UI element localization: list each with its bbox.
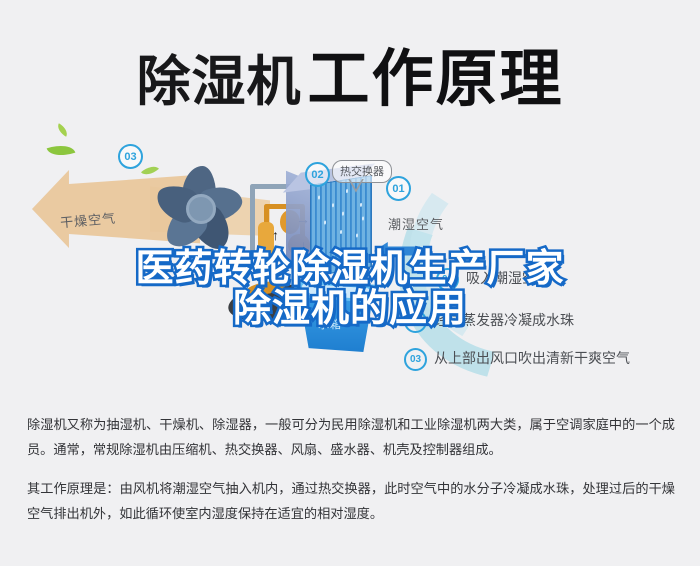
flow-arrow-up-icon: ↑ [272,228,279,242]
fan-hub [186,194,216,224]
dehumidifier-diagram: 干燥空气 03 ↑ → ↓ [0,118,700,398]
poster-root: 除湿机工作原理 干燥空气 03 [0,0,700,566]
page-title: 除湿机工作原理 [0,28,700,118]
step-text-02: 经过蒸发器冷凝成水珠 [434,312,574,328]
step-text-01: 吸入潮湿空气 [466,270,550,286]
badge-03-dry-air: 03 [118,144,143,169]
leaf-icon [55,123,70,136]
description-paragraph-2: 其工作原理是：由风机将潮湿空气抽入机内，通过热交换器，此时空气中的水分子冷凝成水… [27,476,675,526]
step-badge-03: 03 [404,348,427,371]
description-block: 除湿机又称为抽湿机、干燥机、除湿器，一般可分为民用除湿机和工业除湿机两大类，属于… [27,412,675,540]
step-text-03: 从上部出风口吹出清新干爽空气 [434,350,630,366]
condensation-droplets-icon [312,179,370,272]
step-badge-02: 02 [404,310,427,333]
step-item-02: 02经过蒸发器冷凝成水珠 [404,310,574,333]
step-item-03: 03从上部出风口吹出清新干爽空气 [404,348,630,371]
title-part-one: 除湿机 [136,50,301,113]
callout-pointer-icon [348,179,364,193]
step-badge-01: 01 [436,268,459,291]
badge-02-heat-exchanger: 02 [305,162,330,187]
badge-01-humid-air: 01 [386,176,411,201]
fan-icon [152,160,244,252]
title-part-two: 工作原理 [307,42,563,115]
water-tank-label: 水箱 [318,316,342,332]
leaf-icon [47,140,76,160]
humid-air-label: 潮湿空气 [388,214,444,233]
pipe-segment [250,184,255,254]
description-paragraph-1: 除湿机又称为抽湿机、干燥机、除湿器，一般可分为民用除湿机和工业除湿机两大类，属于… [27,412,675,462]
step-item-01: 01吸入潮湿空气 [436,268,550,291]
